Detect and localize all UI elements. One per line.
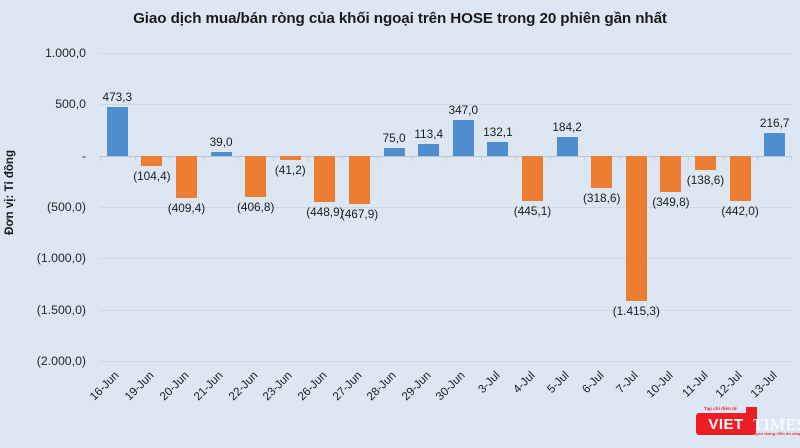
bar-value-label: (467,9) <box>341 207 378 221</box>
bar-7-jul[interactable] <box>626 156 647 301</box>
chart-title: Giao dịch mua/bán ròng của khối ngoại tr… <box>0 10 800 27</box>
bar-4-jul[interactable] <box>522 156 543 202</box>
x-axis-tick <box>273 156 274 161</box>
bar-value-label: (41,2) <box>275 163 306 177</box>
x-axis-tick <box>308 156 309 161</box>
x-axis-tick <box>169 156 170 161</box>
bar-value-label: (448,9) <box>306 205 343 219</box>
bar-value-label: 184,2 <box>552 120 582 134</box>
bar-27-jun[interactable] <box>349 156 370 204</box>
bar-value-label: 39,0 <box>210 135 233 149</box>
x-axis-tick <box>342 156 343 161</box>
gridline <box>100 361 792 362</box>
y-axis-tick-label: (500,0) <box>0 200 86 214</box>
bar-12-jul[interactable] <box>730 156 751 201</box>
y-axis-tick-label: (1.000,0) <box>0 251 86 265</box>
y-axis-tick-label: 1.000,0 <box>0 46 86 60</box>
bar-value-label: (349,8) <box>652 195 689 209</box>
viettimes-logo: Tạp chí điện tử VIET TIMES Truyền thông … <box>696 406 792 440</box>
x-axis-tick <box>688 156 689 161</box>
x-axis-tick <box>584 156 585 161</box>
bar-21-jun[interactable] <box>211 152 232 156</box>
bar-16-jun[interactable] <box>107 107 128 156</box>
bar-value-label: (138,6) <box>687 173 724 187</box>
bar-6-jul[interactable] <box>591 156 612 189</box>
x-axis-tick <box>481 156 482 161</box>
bar-value-label: (1.415,3) <box>613 304 660 318</box>
x-axis-tick <box>135 156 136 161</box>
logo-tagline-top: Tạp chí điện tử <box>704 406 737 411</box>
y-axis-tick-label: (1.500,0) <box>0 303 86 317</box>
bar-3-jul[interactable] <box>487 142 508 156</box>
y-axis-tick-label: (2.000,0) <box>0 354 86 368</box>
bar-value-label: (442,0) <box>721 204 758 218</box>
bar-13-jul[interactable] <box>764 133 785 155</box>
x-axis-tick <box>100 156 101 161</box>
logo-badge-text: VIET <box>696 413 756 435</box>
bar-11-jul[interactable] <box>695 156 716 170</box>
x-axis-tick <box>757 156 758 161</box>
x-axis-tick <box>204 156 205 161</box>
logo-tagline-bottom: Truyền thông Viễn tin công số <box>750 432 800 436</box>
bar-5-jul[interactable] <box>557 137 578 156</box>
x-axis-tick <box>654 156 655 161</box>
bar-23-jun[interactable] <box>280 156 301 160</box>
bar-value-label: (104,4) <box>133 169 170 183</box>
bar-value-label: 75,0 <box>383 131 406 145</box>
x-axis-tick <box>377 156 378 161</box>
y-axis-tick-label: 500,0 <box>0 97 86 111</box>
bar-value-label: (406,8) <box>237 200 274 214</box>
y-axis-title: Đơn vị: Tỉ đồng <box>4 150 30 235</box>
x-axis-tick <box>446 156 447 161</box>
chart-root: Giao dịch mua/bán ròng của khối ngoại tr… <box>0 0 800 448</box>
bar-28-jun[interactable] <box>384 148 405 156</box>
y-axis-tick-label: - <box>0 149 86 163</box>
bar-value-label: 113,4 <box>414 127 443 141</box>
bar-value-label: (409,4) <box>168 201 205 215</box>
x-axis-tick <box>238 156 239 161</box>
bar-30-jun[interactable] <box>453 120 474 156</box>
x-axis-tick <box>619 156 620 161</box>
gridline <box>100 258 792 259</box>
bar-value-label: (445,1) <box>514 204 551 218</box>
bar-10-jul[interactable] <box>660 156 681 192</box>
x-axis-tick <box>515 156 516 161</box>
bar-value-label: 216,7 <box>760 116 790 130</box>
bar-19-jun[interactable] <box>141 156 162 167</box>
bar-value-label: 132,1 <box>483 125 513 139</box>
x-axis-tick <box>723 156 724 161</box>
x-axis-tick <box>791 156 792 161</box>
bar-20-jun[interactable] <box>176 156 197 198</box>
bar-29-jun[interactable] <box>418 144 439 156</box>
bar-value-label: (318,6) <box>583 191 620 205</box>
gridline <box>100 310 792 311</box>
gridline <box>100 104 792 105</box>
x-axis-tick <box>550 156 551 161</box>
bar-value-label: 473,3 <box>103 90 133 104</box>
plot-area: 1.000,0500,0-(500,0)(1.000,0)(1.500,0)(2… <box>100 53 792 361</box>
bar-22-jun[interactable] <box>245 156 266 198</box>
x-axis-tick <box>411 156 412 161</box>
bar-26-jun[interactable] <box>314 156 335 202</box>
gridline <box>100 53 792 54</box>
bar-value-label: 347,0 <box>449 103 479 117</box>
